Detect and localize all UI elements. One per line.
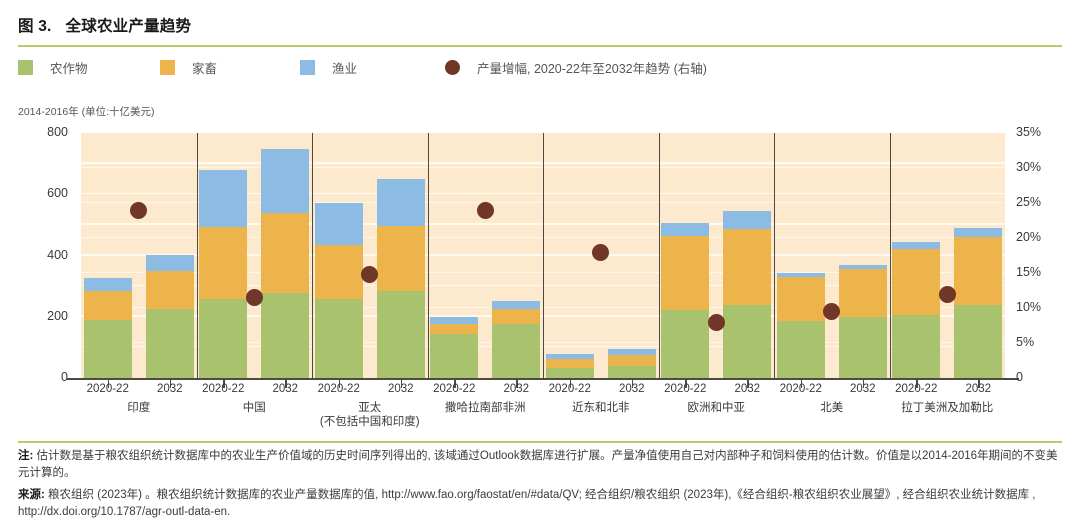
group-separator: [890, 133, 891, 378]
x-axis-period-label: 2020-22: [318, 383, 360, 395]
y-axis-unit-caption: 2014-2016年 (单位:十亿美元): [18, 104, 155, 119]
x-axis-group-label: 北美: [820, 401, 843, 415]
bar-segment-fisheries: [661, 223, 709, 236]
bar-segment-fisheries: [315, 203, 363, 245]
growth-marker[interactable]: [246, 289, 263, 306]
x-axis-period-label: 2020-22: [664, 383, 706, 395]
source-text: 粮农组织 (2023年) 。粮农组织统计数据库的农业产量数据库的值, http:…: [18, 489, 1036, 518]
bar-segment-livestock: [777, 277, 825, 321]
bar-segment-livestock: [546, 359, 594, 368]
bar-segment-fisheries: [608, 349, 656, 355]
x-axis-period-label: 2020-22: [549, 383, 591, 395]
y2-axis-tick-label: 25%: [1016, 195, 1076, 209]
bar-segment-fisheries: [199, 170, 247, 227]
legend-label-livestock: 家畜: [192, 58, 217, 77]
legend-dot-growth-icon: [445, 60, 460, 75]
bar-segment-crops: [723, 305, 771, 379]
chart-bar[interactable]: [146, 255, 194, 378]
chart-bar[interactable]: [546, 354, 594, 378]
chart-legend: 农作物 家畜 渔业 产量增幅, 2020-22年至2032年趋势 (右轴): [0, 47, 1080, 77]
x-axis-group-label: 拉丁美洲及加勒比: [901, 401, 993, 415]
x-axis-group-label: 中国: [243, 401, 266, 415]
x-axis-line: [67, 378, 1019, 380]
bar-segment-crops: [84, 320, 132, 378]
bar-segment-fisheries: [492, 301, 540, 309]
bar-segment-crops: [608, 366, 656, 378]
chart-bar[interactable]: [608, 349, 656, 378]
bar-segment-crops: [261, 293, 309, 378]
bar-segment-fisheries: [892, 242, 940, 250]
bar-segment-fisheries: [430, 317, 478, 323]
bar-segment-livestock: [315, 245, 363, 299]
y-axis-tick-label: 400: [8, 248, 68, 262]
bar-segment-livestock: [377, 226, 425, 292]
figure-number: 图 3.: [18, 18, 52, 35]
bar-segment-crops: [146, 309, 194, 378]
bar-segment-livestock: [199, 227, 247, 299]
bar-segment-livestock: [608, 355, 656, 366]
x-axis-period-label: 2032: [503, 383, 529, 395]
bar-segment-crops: [430, 334, 478, 378]
x-axis-period-label: 2032: [388, 383, 414, 395]
bar-segment-crops: [661, 310, 709, 378]
source-lead: 来源:: [18, 489, 45, 501]
y2-axis-tick-label: 15%: [1016, 265, 1076, 279]
chart-bar[interactable]: [777, 273, 825, 378]
growth-marker[interactable]: [477, 202, 494, 219]
source-paragraph: 来源: 粮农组织 (2023年) 。粮农组织统计数据库的农业产量数据库的值, h…: [18, 487, 1064, 520]
chart-bar[interactable]: [723, 211, 771, 378]
y2-axis-tick-label: 5%: [1016, 335, 1076, 349]
x-axis-period-label: 2032: [619, 383, 645, 395]
group-separator: [312, 133, 313, 378]
x-axis-period-label: 2020-22: [87, 383, 129, 395]
bar-segment-fisheries: [146, 255, 194, 271]
bar-segment-livestock: [146, 271, 194, 309]
bar-segment-crops: [546, 368, 594, 378]
chart-bar[interactable]: [492, 301, 540, 378]
bar-segment-fisheries: [839, 265, 887, 269]
legend-label-fisheries: 渔业: [332, 58, 357, 77]
x-axis-period-label: 2020-22: [433, 383, 475, 395]
bar-segment-crops: [892, 315, 940, 378]
group-separator: [543, 133, 544, 378]
y-axis-tick-label: 0: [8, 370, 68, 384]
y-axis-tick-label: 600: [8, 186, 68, 200]
y2-axis-tick-label: 35%: [1016, 125, 1076, 139]
chart-bar[interactable]: [261, 149, 309, 378]
figure-footnotes: 注: 估计数是基于粮农组织统计数据库中的农业生产价值域的历史时间序列得出的, 该…: [18, 448, 1064, 526]
bar-segment-crops: [492, 324, 540, 379]
chart-bar[interactable]: [430, 317, 478, 378]
chart-bar[interactable]: [661, 223, 709, 378]
growth-marker[interactable]: [939, 286, 956, 303]
legend-item-crops[interactable]: 农作物: [18, 58, 160, 77]
legend-swatch-crops-icon: [18, 60, 33, 75]
bar-segment-livestock: [723, 229, 771, 304]
x-axis-period-label: 2032: [734, 383, 760, 395]
bar-segment-fisheries: [777, 273, 825, 277]
legend-item-livestock[interactable]: 家畜: [160, 58, 300, 77]
bar-segment-crops: [315, 299, 363, 378]
chart-bar[interactable]: [839, 265, 887, 378]
footer-divider: [18, 441, 1062, 443]
growth-marker[interactable]: [708, 314, 725, 331]
legend-label-crops: 农作物: [50, 58, 88, 77]
bar-segment-livestock: [84, 291, 132, 320]
bar-segment-crops: [777, 321, 825, 378]
growth-marker[interactable]: [130, 202, 147, 219]
x-axis-period-label: 2032: [272, 383, 298, 395]
y-axis-tick-label: 800: [8, 125, 68, 139]
chart-bar[interactable]: [954, 228, 1002, 378]
bar-segment-livestock: [492, 309, 540, 323]
group-separator: [659, 133, 660, 378]
x-axis-period-label: 2020-22: [895, 383, 937, 395]
bar-segment-fisheries: [723, 211, 771, 229]
bar-segment-fisheries: [546, 354, 594, 359]
y2-axis-tick-label: 30%: [1016, 160, 1076, 174]
bar-segment-livestock: [954, 237, 1002, 306]
x-axis-group-label: 亚太(不包括中国和印度): [320, 401, 420, 429]
legend-item-growth[interactable]: 产量增幅, 2020-22年至2032年趋势 (右轴): [445, 58, 707, 77]
bar-segment-fisheries: [954, 228, 1002, 237]
bar-segment-livestock: [839, 269, 887, 316]
x-axis-period-label: 2032: [850, 383, 876, 395]
legend-label-growth: 产量增幅, 2020-22年至2032年趋势 (右轴): [477, 58, 707, 77]
chart-plot-area: [81, 133, 1005, 378]
x-axis-group-label: 印度: [127, 401, 150, 415]
chart-bar[interactable]: [377, 179, 425, 378]
legend-item-fisheries[interactable]: 渔业: [300, 58, 445, 77]
x-axis-period-label: 2032: [965, 383, 991, 395]
figure-header: 图 3.全球农业产量趋势: [0, 0, 1080, 36]
x-axis-period-label: 2032: [157, 383, 183, 395]
x-axis-group-label: 欧洲和中亚: [688, 401, 746, 415]
bar-segment-fisheries: [377, 179, 425, 226]
chart-bar[interactable]: [84, 278, 132, 378]
x-axis-period-label: 2020-22: [780, 383, 822, 395]
figure-title-text: 全球农业产量趋势: [66, 18, 192, 35]
legend-swatch-livestock-icon: [160, 60, 175, 75]
bar-segment-crops: [954, 305, 1002, 378]
legend-swatch-fisheries-icon: [300, 60, 315, 75]
bar-segment-crops: [377, 291, 425, 378]
y2-axis-tick-label: 10%: [1016, 300, 1076, 314]
group-separator: [774, 133, 775, 378]
growth-marker[interactable]: [592, 244, 609, 261]
bar-segment-livestock: [661, 236, 709, 310]
x-axis-group-label: 近东和北非: [572, 401, 630, 415]
note-lead: 注:: [18, 450, 33, 462]
bar-segment-fisheries: [84, 278, 132, 290]
note-text: 估计数是基于粮农组织统计数据库中的农业生产价值域的历史时间序列得出的, 该域通过…: [18, 450, 1058, 479]
x-axis-period-label: 2020-22: [202, 383, 244, 395]
chart-bar[interactable]: [199, 170, 247, 378]
growth-marker[interactable]: [823, 303, 840, 320]
bar-segment-crops: [199, 299, 247, 378]
group-separator: [428, 133, 429, 378]
y-axis-tick-label: 200: [8, 309, 68, 323]
bar-segment-livestock: [892, 249, 940, 315]
y2-axis-tick-label: 0: [1016, 370, 1076, 384]
y2-axis-tick-label: 20%: [1016, 230, 1076, 244]
bar-segment-crops: [839, 317, 887, 378]
group-separator: [197, 133, 198, 378]
growth-marker[interactable]: [361, 266, 378, 283]
x-axis-group-label: 撒哈拉南部非洲: [445, 401, 526, 415]
chart-bar[interactable]: [315, 203, 363, 378]
bar-segment-fisheries: [261, 149, 309, 212]
note-paragraph: 注: 估计数是基于粮农组织统计数据库中的农业生产价值域的历史时间序列得出的, 该…: [18, 448, 1064, 481]
bar-segment-livestock: [430, 324, 478, 334]
page-title: 图 3.全球农业产量趋势: [18, 14, 1062, 36]
bar-segment-livestock: [261, 213, 309, 293]
chart-bar[interactable]: [892, 242, 940, 378]
